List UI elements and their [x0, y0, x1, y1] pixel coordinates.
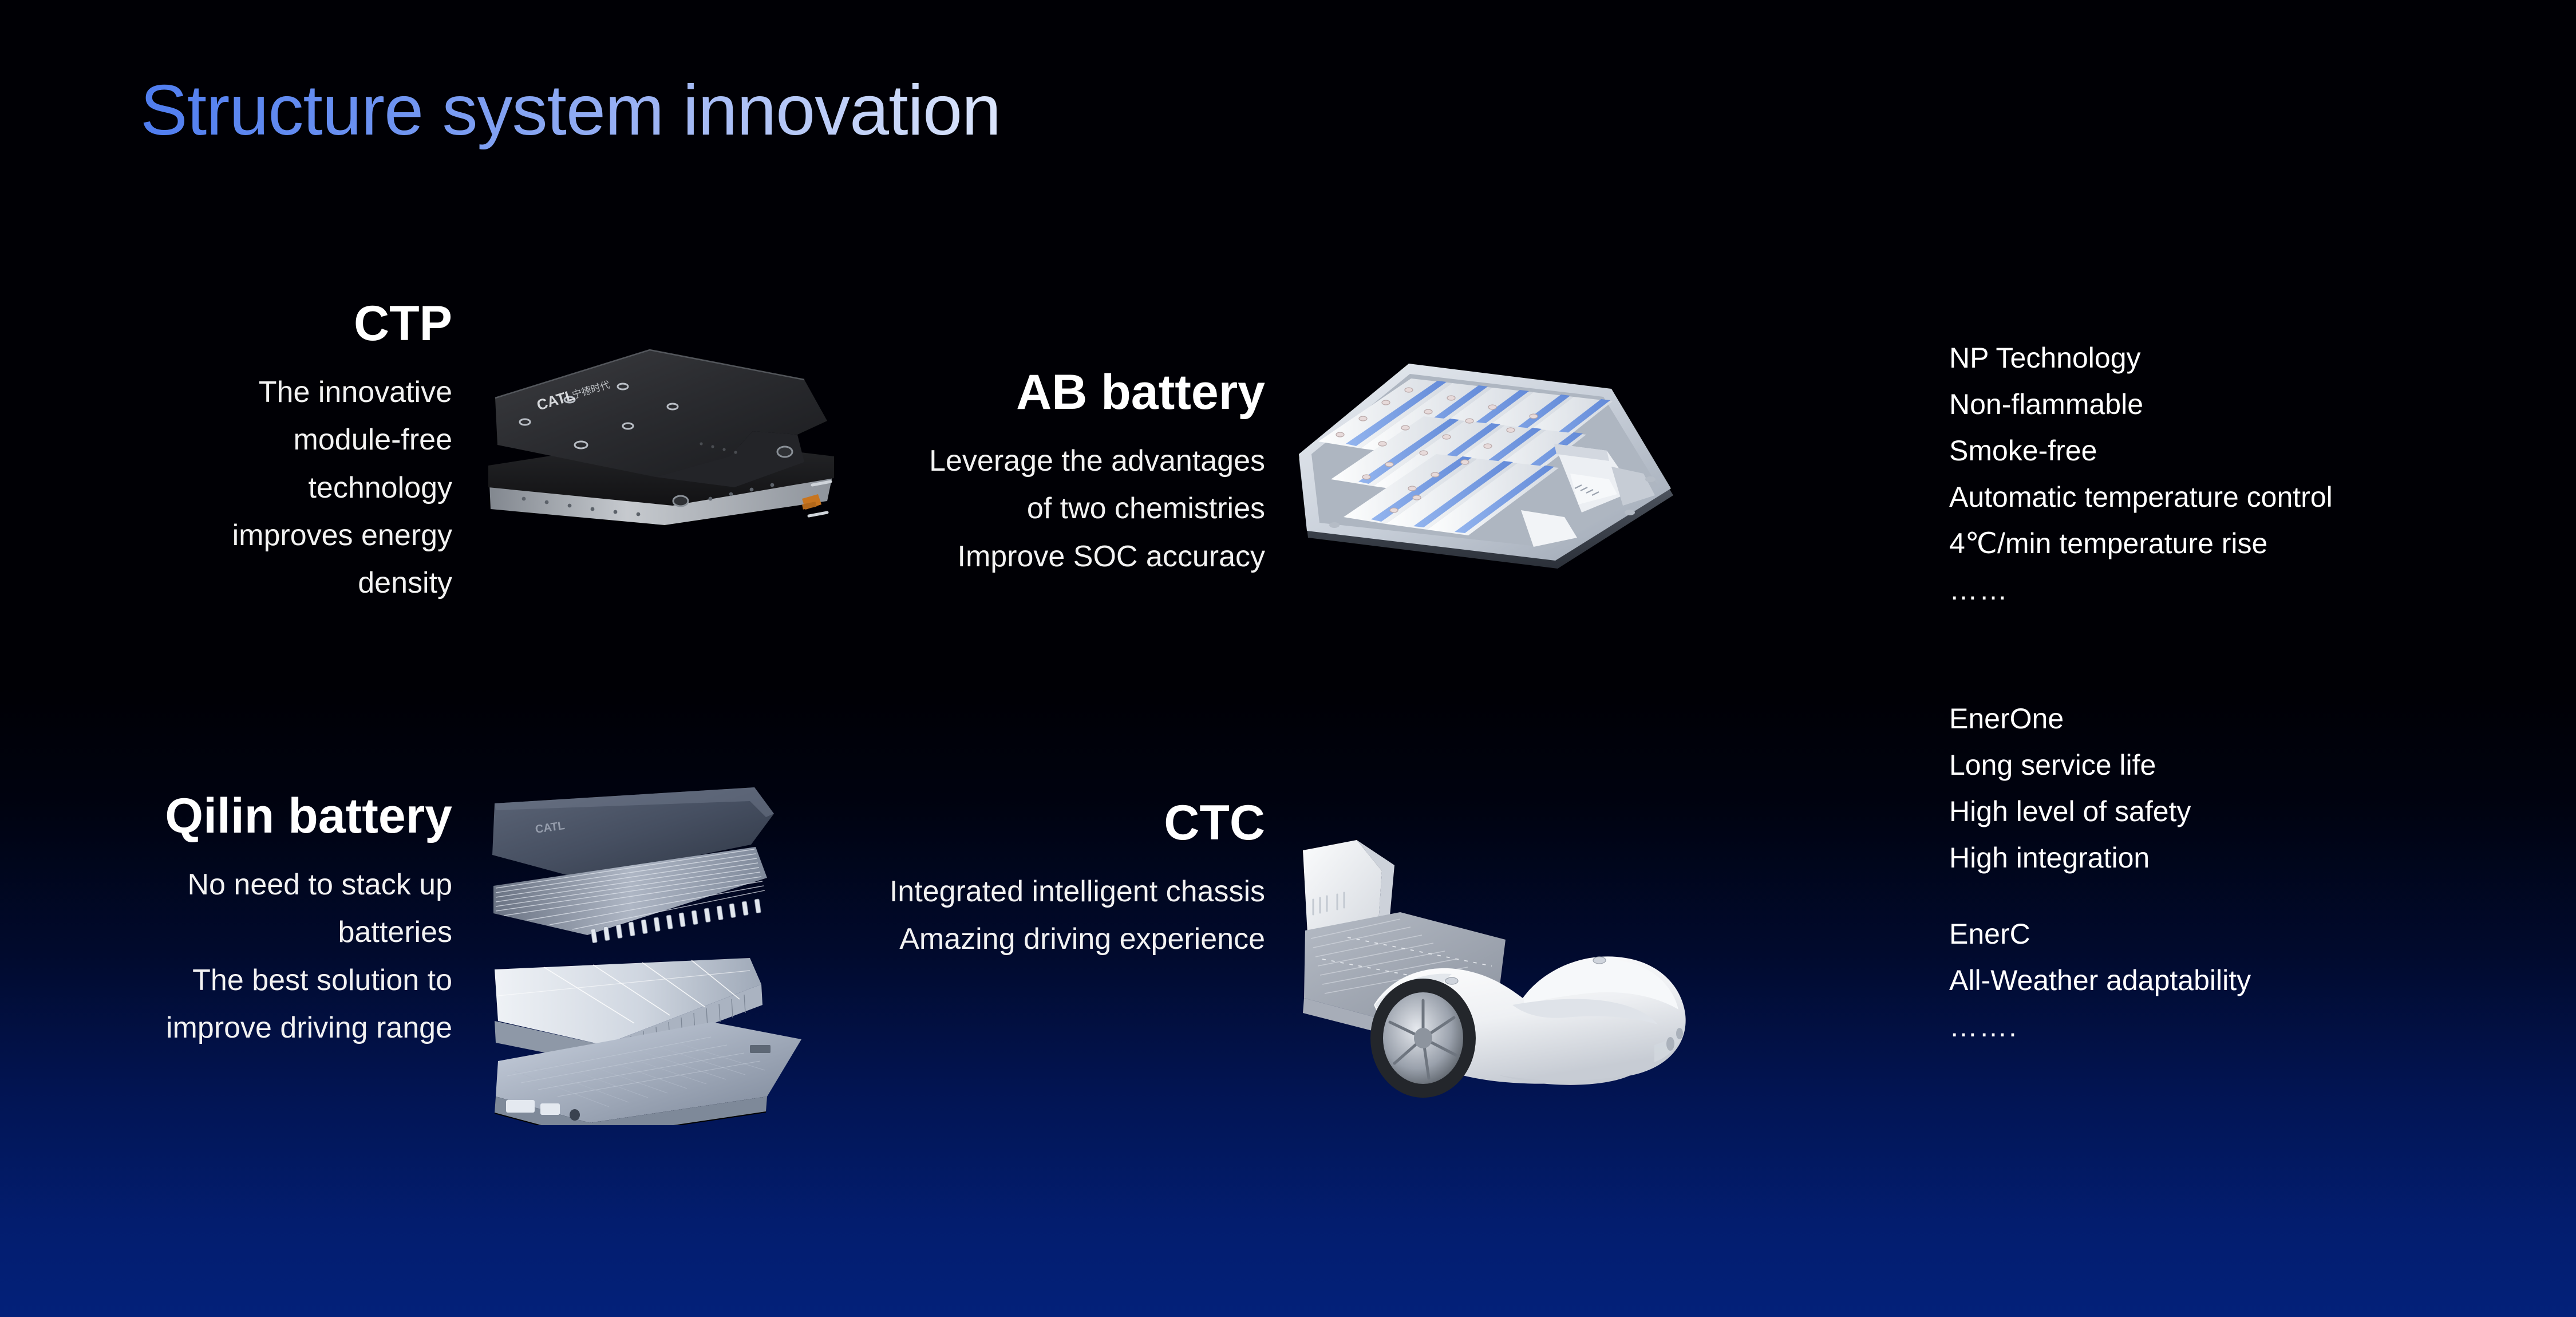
block-line: improves energy: [92, 512, 452, 559]
feature-item-ellipsis: ……: [1949, 567, 2333, 613]
block-title-ctp: CTP: [92, 298, 452, 349]
block-line: Improve SOC accuracy: [693, 533, 1265, 581]
feature-item: EnerOne: [1949, 696, 2251, 742]
block-line: batteries: [92, 909, 452, 956]
block-line: The best solution to: [92, 957, 452, 1004]
slide-canvas: Structure system innovation CTP The inno…: [0, 0, 2576, 1317]
feature-item: Long service life: [1949, 742, 2251, 788]
block-description-qilin-battery: No need to stack up batteries The best s…: [92, 861, 452, 1052]
block-line: density: [92, 559, 452, 607]
feature-item: Automatic temperature control: [1949, 474, 2333, 521]
block-line: Leverage the advantages: [693, 437, 1265, 485]
feature-list-spacer: [1949, 881, 2251, 911]
block-title-qilin-battery: Qilin battery: [92, 790, 452, 842]
feature-block-ctc: CTC Integrated intelligent chassis Amazi…: [693, 797, 1265, 964]
block-description-ab-battery: Leverage the advantages of two chemistri…: [693, 437, 1265, 581]
feature-block-qilin-battery: Qilin battery No need to stack up batter…: [92, 790, 452, 1052]
feature-item: NP Technology: [1949, 335, 2333, 381]
block-line: improve driving range: [92, 1004, 452, 1052]
feature-item: All-Weather adaptability: [1949, 957, 2251, 1004]
page-title: Structure system innovation: [140, 70, 1001, 152]
feature-item: High integration: [1949, 835, 2251, 881]
feature-list-energy-products: EnerOne Long service life High level of …: [1949, 696, 2251, 1050]
feature-item: Smoke-free: [1949, 428, 2333, 474]
feature-block-ctp: CTP The innovative module-free technolog…: [92, 298, 452, 607]
block-line: No need to stack up: [92, 861, 452, 909]
block-line: Amazing driving experience: [693, 916, 1265, 963]
block-description-ctc: Integrated intelligent chassis Amazing d…: [693, 868, 1265, 963]
block-line: of two chemistries: [693, 485, 1265, 533]
feature-item: Non-flammable: [1949, 381, 2333, 428]
block-line: technology: [92, 464, 452, 512]
block-title-ab-battery: AB battery: [693, 366, 1265, 418]
ctc-chassis-vehicle-image: [1288, 816, 1694, 1137]
feature-block-ab-battery: AB battery Leverage the advantages of tw…: [693, 366, 1265, 581]
block-line: Integrated intelligent chassis: [693, 868, 1265, 916]
feature-list-np-technology: NP Technology Non-flammable Smoke-free A…: [1949, 335, 2333, 613]
feature-item: EnerC: [1949, 911, 2251, 957]
block-title-ctc: CTC: [693, 797, 1265, 849]
block-line: module-free: [92, 416, 452, 464]
block-description-ctp: The innovative module-free technology im…: [92, 369, 452, 607]
feature-item: 4℃/min temperature rise: [1949, 521, 2333, 567]
block-line: The innovative: [92, 369, 452, 416]
feature-item: High level of safety: [1949, 788, 2251, 835]
feature-item-ellipsis: …….: [1949, 1004, 2251, 1050]
ab-battery-pack-image: [1291, 324, 1680, 587]
